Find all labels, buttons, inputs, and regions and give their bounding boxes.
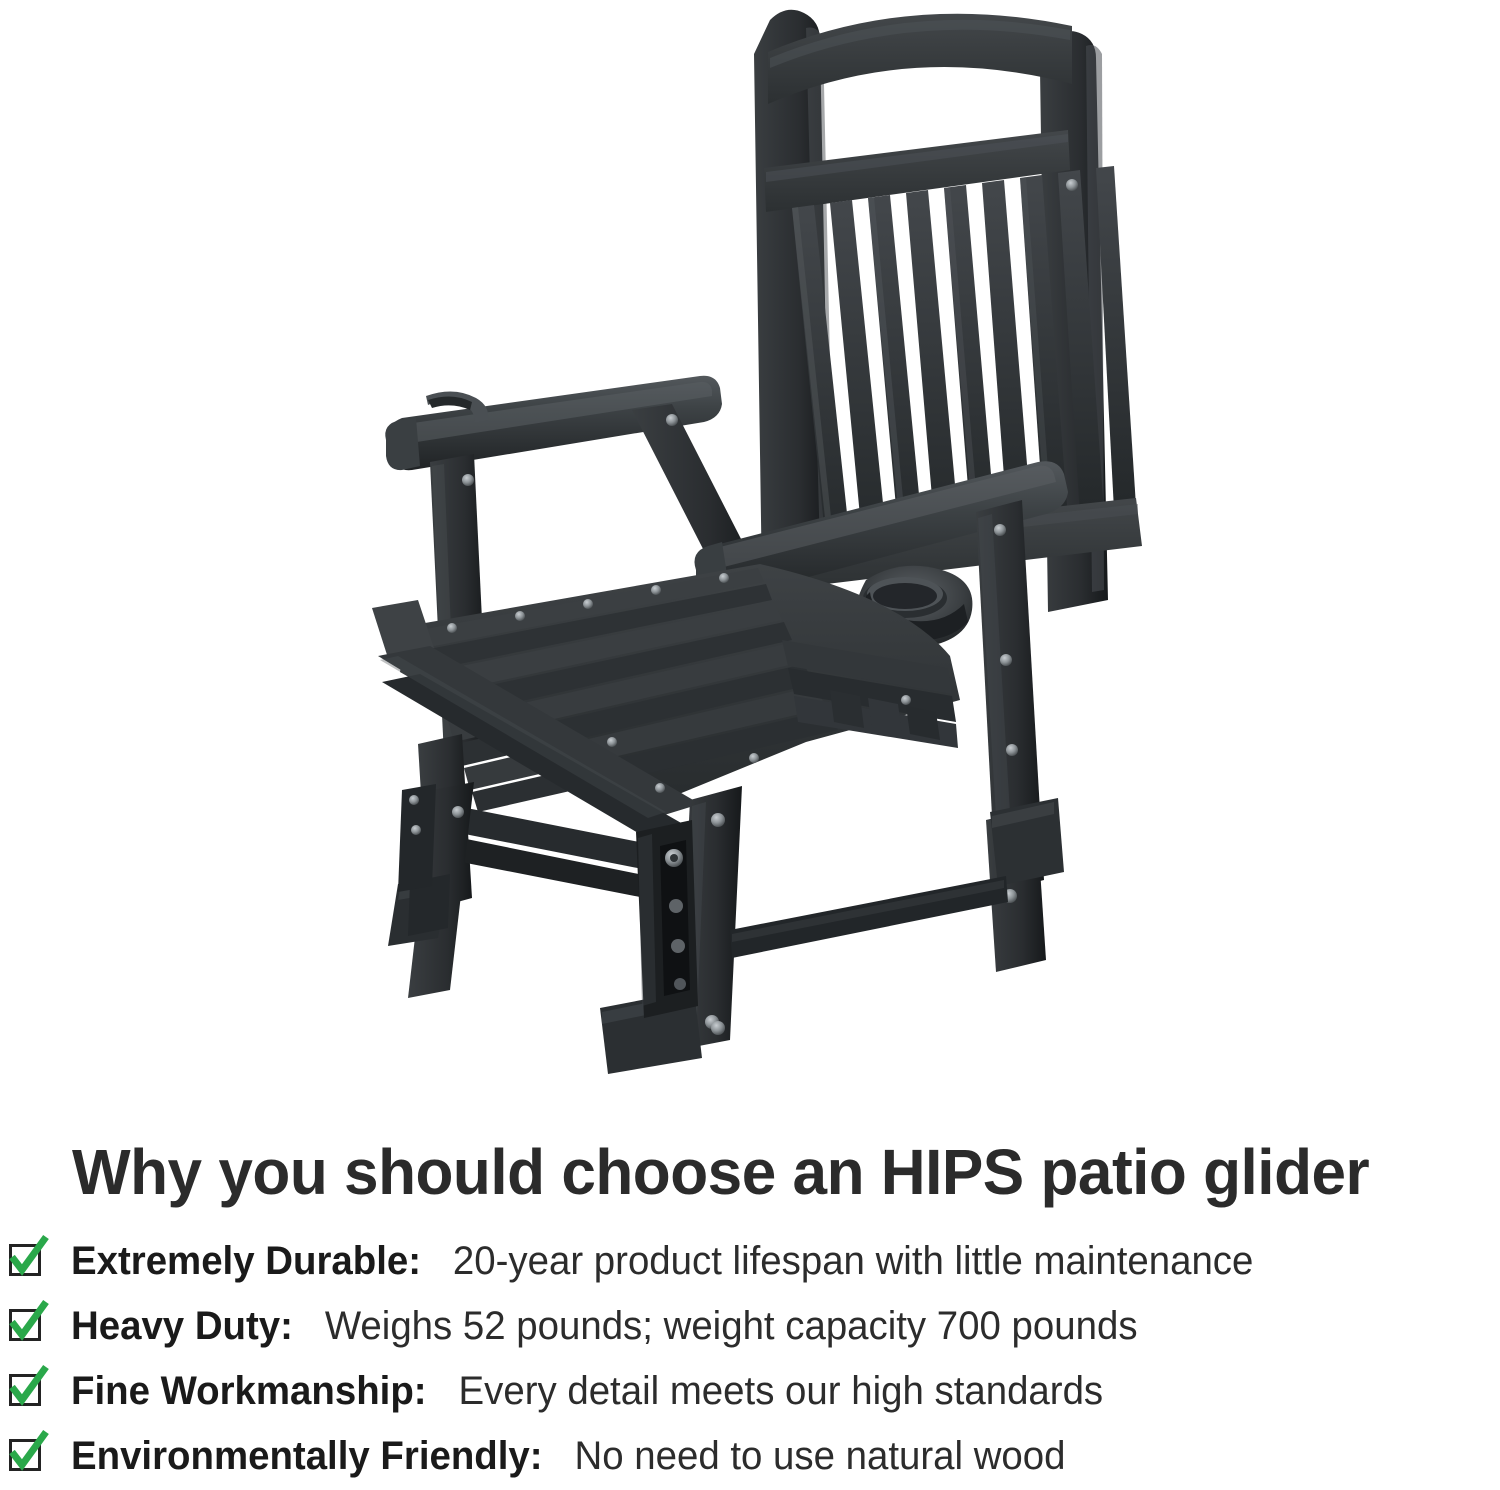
benefit-label: Environmentally Friendly:	[71, 1434, 543, 1478]
screw-head	[411, 825, 421, 835]
checkmark-icon	[5, 1366, 49, 1410]
screw-head	[607, 737, 617, 747]
checkmark-icon	[5, 1431, 49, 1475]
benefit-description: Every detail meets our high standards	[459, 1369, 1104, 1413]
screw-head	[711, 813, 725, 827]
screw-head	[994, 524, 1006, 536]
screw-head	[1000, 654, 1012, 666]
screw-head	[711, 1021, 725, 1035]
screw-head	[1066, 179, 1078, 191]
checkmark-icon	[5, 1301, 49, 1345]
screw-head	[651, 585, 661, 595]
green-checkbox-icon	[5, 1239, 49, 1283]
screw-head	[719, 573, 729, 583]
green-checkbox-icon	[5, 1434, 49, 1478]
list-item: Fine Workmanship: Every detail meets our…	[0, 1358, 1500, 1423]
benefit-text: Heavy Duty: Weighs 52 pounds; weight cap…	[71, 1303, 1138, 1349]
screw-head	[409, 795, 419, 805]
list-item: Extremely Durable: 20-year product lifes…	[0, 1228, 1500, 1293]
screw-head	[452, 806, 464, 818]
benefit-label: Heavy Duty:	[71, 1304, 293, 1348]
benefit-description: No need to use natural wood	[574, 1434, 1065, 1478]
benefit-label: Extremely Durable:	[71, 1239, 421, 1283]
list-item: Heavy Duty: Weighs 52 pounds; weight cap…	[0, 1293, 1500, 1358]
marketing-copy-block: Why you should choose an HIPS patio glid…	[0, 1120, 1500, 1490]
checkmark-icon	[5, 1236, 49, 1280]
benefit-description: 20-year product lifespan with little mai…	[453, 1239, 1253, 1283]
screw-head	[462, 474, 474, 486]
screw-head	[1006, 744, 1018, 756]
benefit-description: Weighs 52 pounds; weight capacity 700 po…	[325, 1304, 1138, 1348]
green-checkbox-icon	[5, 1369, 49, 1413]
screw-head	[583, 599, 593, 609]
screw-head	[901, 695, 911, 705]
benefit-label: Fine Workmanship:	[71, 1369, 427, 1413]
screw-head	[749, 753, 759, 763]
product-photo	[0, 0, 1500, 1120]
patio-glider-chair-illustration	[0, 0, 1500, 1120]
benefit-text: Fine Workmanship: Every detail meets our…	[71, 1368, 1103, 1414]
glider-swing-arm	[636, 820, 698, 1018]
screw-head	[666, 414, 678, 426]
page-title: Why you should choose an HIPS patio glid…	[72, 1137, 1369, 1207]
benefit-list: Extremely Durable: 20-year product lifes…	[0, 1228, 1500, 1488]
benefit-text: Extremely Durable: 20-year product lifes…	[71, 1238, 1253, 1284]
benefit-text: Environmentally Friendly: No need to use…	[71, 1433, 1066, 1479]
green-checkbox-icon	[5, 1304, 49, 1348]
list-item: Environmentally Friendly: No need to use…	[0, 1423, 1500, 1488]
screw-head	[447, 623, 457, 633]
screw-head	[515, 611, 525, 621]
screw-head	[655, 783, 665, 793]
